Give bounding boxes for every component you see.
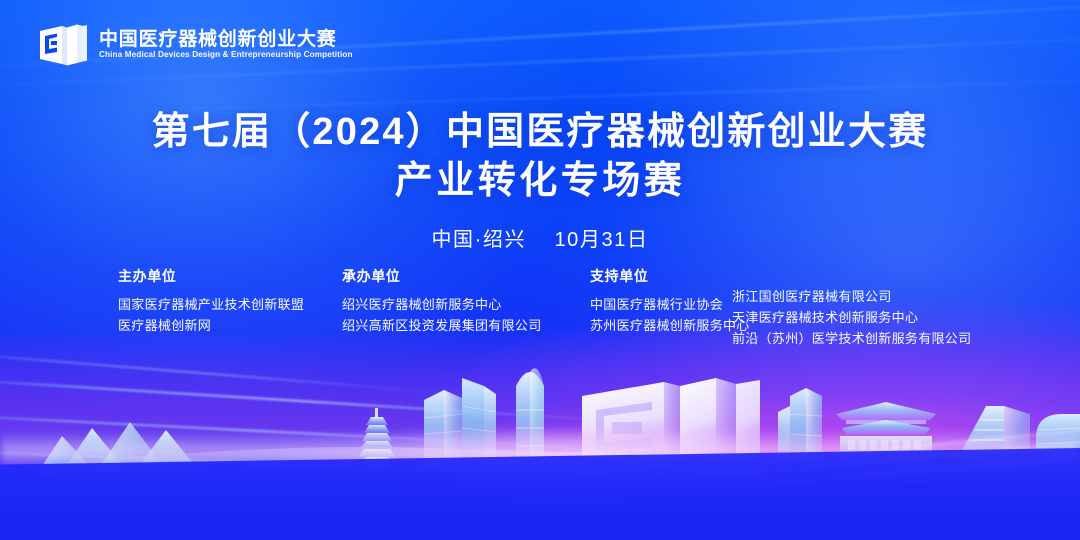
- organizer-item: 天津医疗器械技术创新服务中心: [732, 307, 971, 328]
- organizer-column-supporter-extra: 浙江国创医疗器械有限公司 天津医疗器械技术创新服务中心 前沿（苏州）医学技术创新…: [732, 286, 971, 349]
- page-title-line2: 产业转化专场赛: [0, 158, 1080, 204]
- open-book-logo-mark-icon: [38, 22, 88, 68]
- rocket-tower-icon: [512, 368, 548, 472]
- brand-name-en: China Medical Devices Design & Entrepren…: [99, 51, 353, 59]
- organizer-heading: 支持单位: [590, 266, 750, 286]
- page-title-line1: 第七届（2024）中国医疗器械创新创业大赛: [0, 110, 1080, 155]
- organizer-item: 医疗器械创新网: [118, 315, 304, 336]
- opera-house-shells-icon: [38, 422, 206, 474]
- chinese-gate-tower-icon: [836, 402, 936, 474]
- organizer-column-supporter: 支持单位 中国医疗器械行业协会 苏州医疗器械创新服务中心: [590, 266, 750, 336]
- organizer-item: 前沿（苏州）医学技术创新服务有限公司: [732, 328, 971, 349]
- organizer-heading: 承办单位: [342, 266, 542, 286]
- organizer-item: 浙江国创医疗器械有限公司: [732, 286, 971, 307]
- organizer-item: 中国医疗器械行业协会: [590, 294, 750, 315]
- organizer-item: 苏州医疗器械创新服务中心: [590, 315, 750, 336]
- organizers-block: 主办单位 国家医疗器械产业技术创新联盟 医疗器械创新网 承办单位 绍兴医疗器械创…: [0, 266, 1080, 362]
- brand-name-cn: 中国医疗器械创新创业大赛: [99, 30, 353, 49]
- twin-tower-icon: [778, 388, 822, 472]
- organizer-heading: 主办单位: [118, 266, 304, 286]
- stepped-pyramid-icon: [950, 406, 1030, 472]
- organizer-item: 绍兴高新区投资发展集团有限公司: [342, 315, 542, 336]
- brand-logo[interactable]: 中国医疗器械创新创业大赛 China Medical Devices Desig…: [38, 22, 353, 68]
- organizer-item: 国家医疗器械产业技术创新联盟: [118, 294, 304, 315]
- organizer-column-coorganizer: 承办单位 绍兴医疗器械创新服务中心 绍兴高新区投资发展集团有限公司: [342, 266, 542, 336]
- blue-streak-4: [0, 484, 520, 502]
- event-meta: 中国·绍兴 10月31日: [0, 223, 1080, 252]
- event-date: 10月31日: [554, 229, 648, 251]
- event-location: 中国·绍兴: [431, 229, 526, 251]
- organizer-item: 绍兴医疗器械创新服务中心: [342, 294, 542, 315]
- organizer-column-host: 主办单位 国家医疗器械产业技术创新联盟 医疗器械创新网: [118, 266, 304, 336]
- hero-title-block: 第七届（2024）中国医疗器械创新创业大赛 产业转化专场赛 中国·绍兴 10月3…: [0, 110, 1080, 252]
- skyline-illustration: [0, 352, 1080, 482]
- poster-banner: 中国医疗器械创新创业大赛 China Medical Devices Desig…: [0, 0, 1080, 540]
- brand-logo-text: 中国医疗器械创新创业大赛 China Medical Devices Desig…: [99, 30, 353, 59]
- pagoda-tower-icon: [358, 408, 396, 472]
- dome-arena-icon: [1036, 414, 1080, 470]
- glass-skyscraper-icon: [420, 378, 504, 472]
